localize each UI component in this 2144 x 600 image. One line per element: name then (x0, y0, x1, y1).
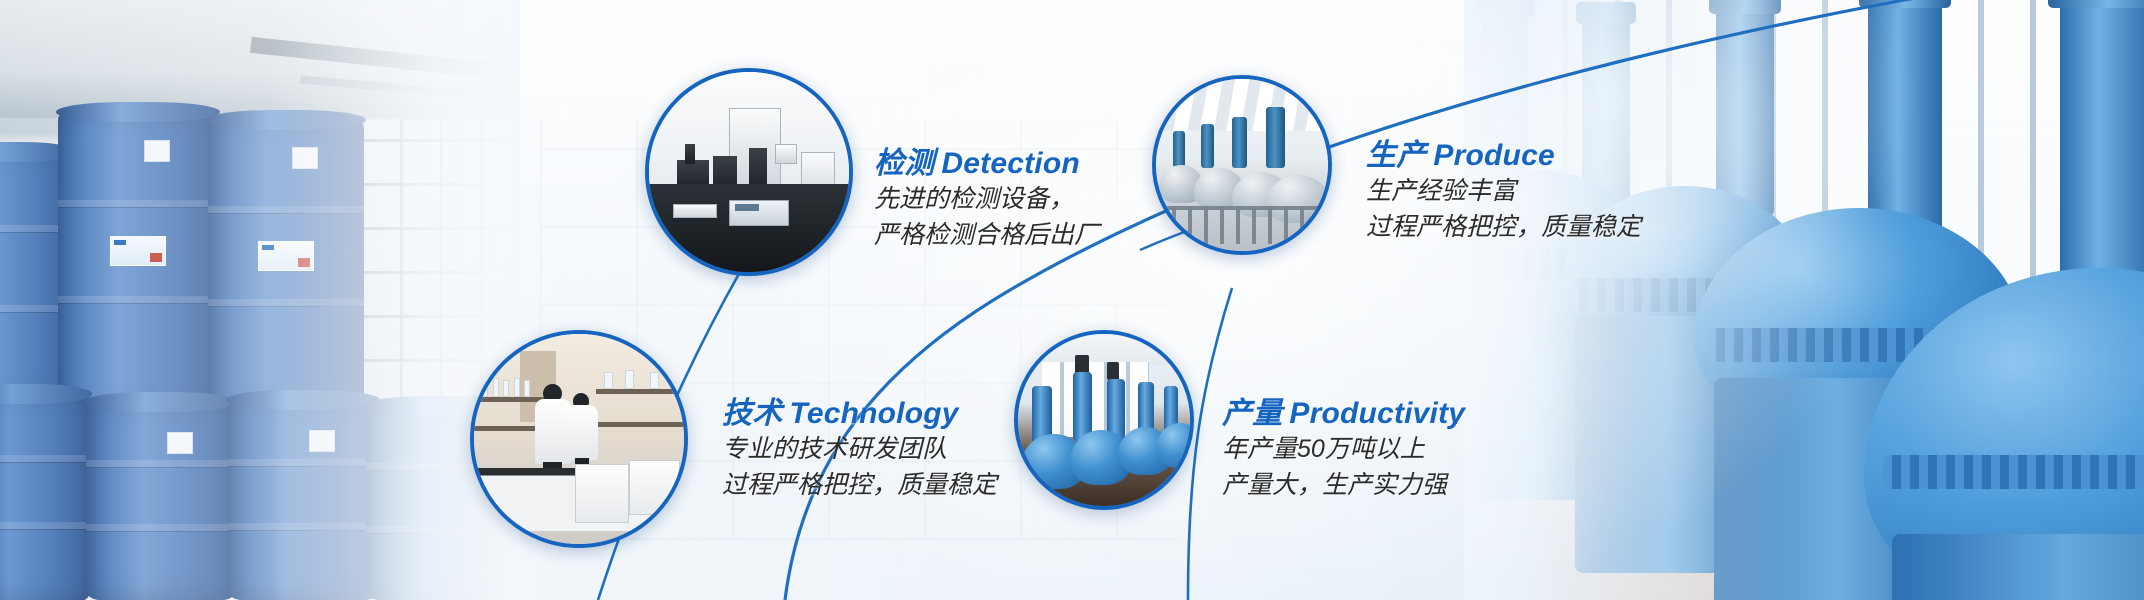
stainless-reactor-workshop-photo (1156, 79, 1328, 251)
feature-heading-en: Productivity (1282, 397, 1465, 430)
main-arc-curve (785, 0, 2144, 600)
feature-heading-technology: 技术Technology (722, 396, 997, 432)
feature-text-technology: 技术Technology 专业的技术研发团队 过程严格把控，质量稳定 (722, 396, 997, 503)
feature-text-productivity: 产量Productivity 年产量50万吨以上 产量大，生产实力强 (1222, 396, 1465, 503)
connector-curves (0, 0, 2144, 600)
feature-heading-cn: 检测 (874, 147, 934, 180)
feature-line-1: 先进的检测设备， (874, 182, 1099, 218)
feature-line-1: 生产经验丰富 (1366, 174, 1641, 210)
feature-heading-en: Produce (1426, 139, 1554, 172)
feature-line-1: 年产量50万吨以上 (1222, 432, 1465, 468)
feature-line-1: 专业的技术研发团队 (722, 432, 997, 468)
feature-heading-cn: 产量 (1222, 397, 1282, 430)
feature-heading-en: Detection (934, 147, 1080, 180)
factory-capability-banner: 检测Detection 先进的检测设备， 严格检测合格后出厂 生产Produce… (0, 0, 2144, 600)
blue-reactor-tanks-photo (1018, 334, 1190, 506)
feature-photo-technology[interactable] (470, 330, 688, 548)
feature-line-2: 过程严格把控，质量稳定 (1366, 210, 1641, 246)
feature-text-produce: 生产Produce 生产经验丰富 过程严格把控，质量稳定 (1366, 138, 1641, 245)
feature-heading-cn: 技术 (722, 397, 782, 430)
feature-photo-detection[interactable] (645, 68, 853, 276)
feature-line-2: 过程严格把控，质量稳定 (722, 468, 997, 504)
feature-heading-productivity: 产量Productivity (1222, 396, 1465, 432)
feature-line-2: 严格检测合格后出厂 (874, 218, 1099, 254)
feature-heading-detection: 检测Detection (874, 146, 1099, 182)
feature-heading-cn: 生产 (1366, 139, 1426, 172)
lab-testing-equipment-photo (649, 72, 849, 272)
laboratory-researchers-photo (474, 334, 684, 544)
feature-heading-en: Technology (782, 397, 958, 430)
feature-text-detection: 检测Detection 先进的检测设备， 严格检测合格后出厂 (874, 146, 1099, 253)
feature-photo-produce[interactable] (1152, 75, 1332, 255)
feature-heading-produce: 生产Produce (1366, 138, 1641, 174)
feature-photo-productivity[interactable] (1014, 330, 1194, 510)
feature-line-2: 产量大，生产实力强 (1222, 468, 1465, 504)
